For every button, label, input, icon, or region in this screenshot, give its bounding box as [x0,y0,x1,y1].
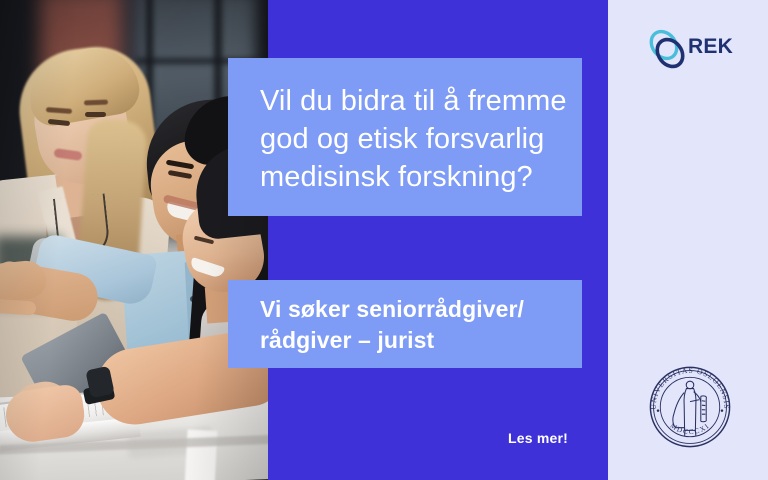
headline-box: Vil du bidra til å fremme god og etisk f… [228,58,582,216]
uio-seal-icon: UNIVERSITAS OSLOENSIS MDCCCXI [645,362,735,452]
read-more-link[interactable]: Les mer! [508,430,568,446]
rek-wordmark: REK [688,35,733,59]
rek-rings-icon [646,28,688,70]
job-title-line-2: rådgiver – jurist [260,325,556,356]
uio-seal-year: MDCCCXI [669,422,712,436]
headline-line-2: god og etisk forsvarlig [260,120,556,158]
recruitment-banner: REK UNIVERSITAS OSLOENSIS MDCCCXI [0,0,768,480]
job-title-box: Vi søker seniorrådgiver/ rådgiver – juri… [228,280,582,368]
job-title-line-1: Vi søker seniorrådgiver/ [260,294,556,325]
uio-seal-ring-text: UNIVERSITAS OSLOENSIS [649,366,731,410]
headline-line-1: Vil du bidra til å fremme [260,82,556,120]
rek-logo: REK [646,26,742,72]
headline-line-3: medisinsk forskning? [260,158,556,196]
